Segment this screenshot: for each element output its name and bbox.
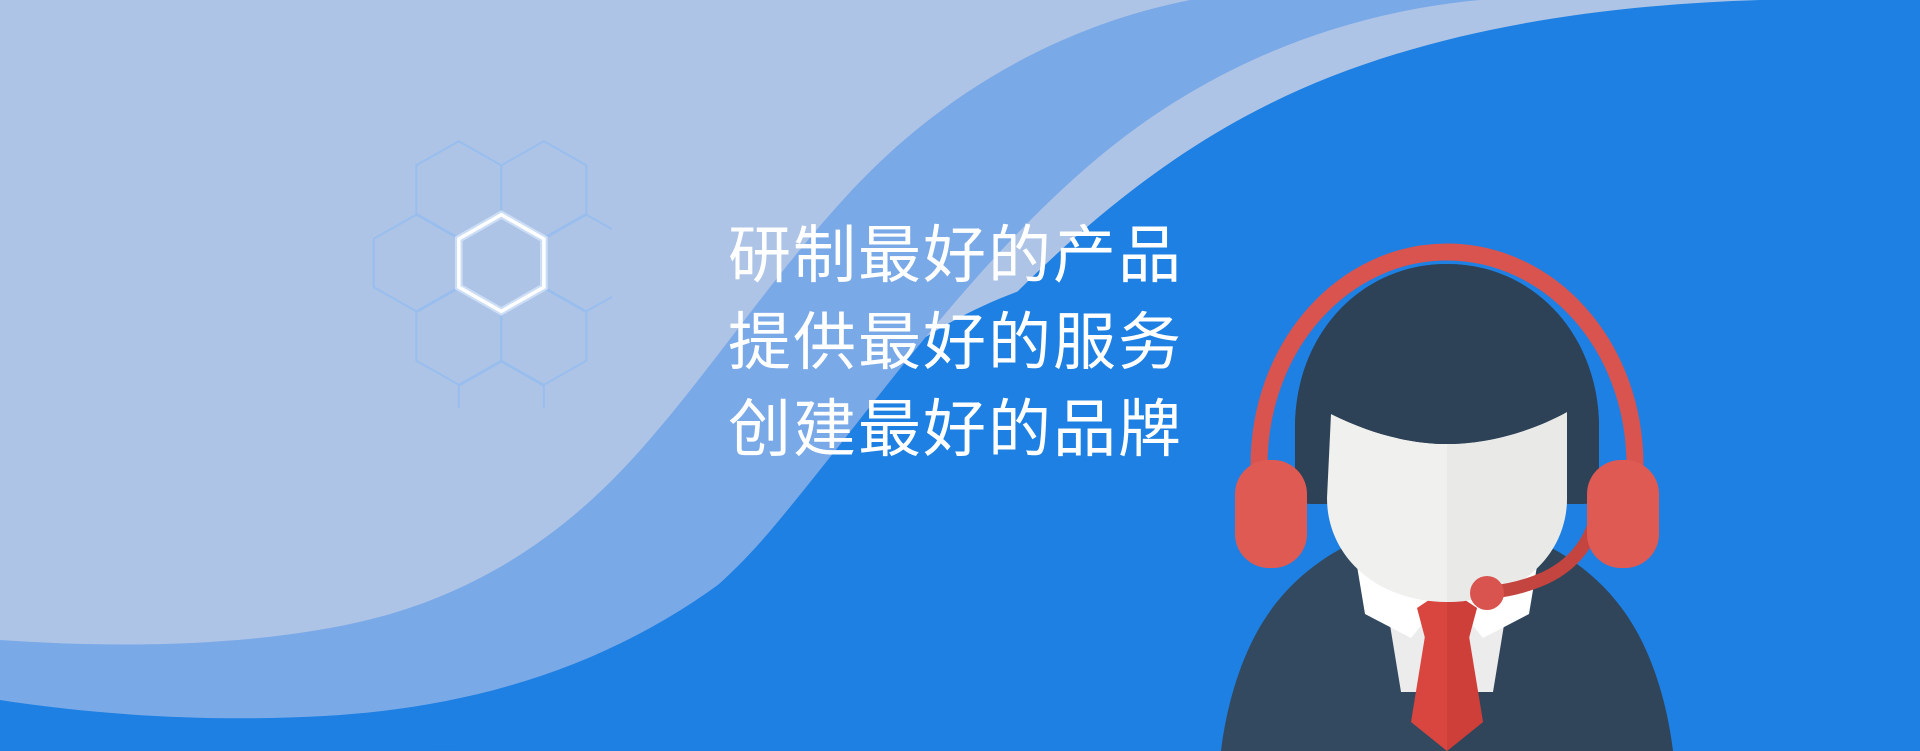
- headline-line-2: 提供最好的服务: [728, 302, 1288, 383]
- headline-line-3: 创建最好的品牌: [728, 389, 1288, 470]
- headset-earcup-right: [1587, 460, 1659, 568]
- promo-banner: 研制最好的产品 提供最好的服务 创建最好的品牌: [0, 0, 1920, 751]
- headline-line-1: 研制最好的产品: [728, 215, 1288, 296]
- headline-block: 研制最好的产品 提供最好的服务 创建最好的品牌: [728, 215, 1288, 470]
- hexagon-lattice: [352, 118, 612, 408]
- hexagon-5: [544, 215, 612, 312]
- hexagon-highlighted-halo: [459, 215, 544, 312]
- headset-earcup-left: [1235, 460, 1307, 568]
- hexagon-8: [459, 362, 544, 408]
- microphone-tip: [1470, 576, 1504, 610]
- hexagon-3: [374, 215, 459, 312]
